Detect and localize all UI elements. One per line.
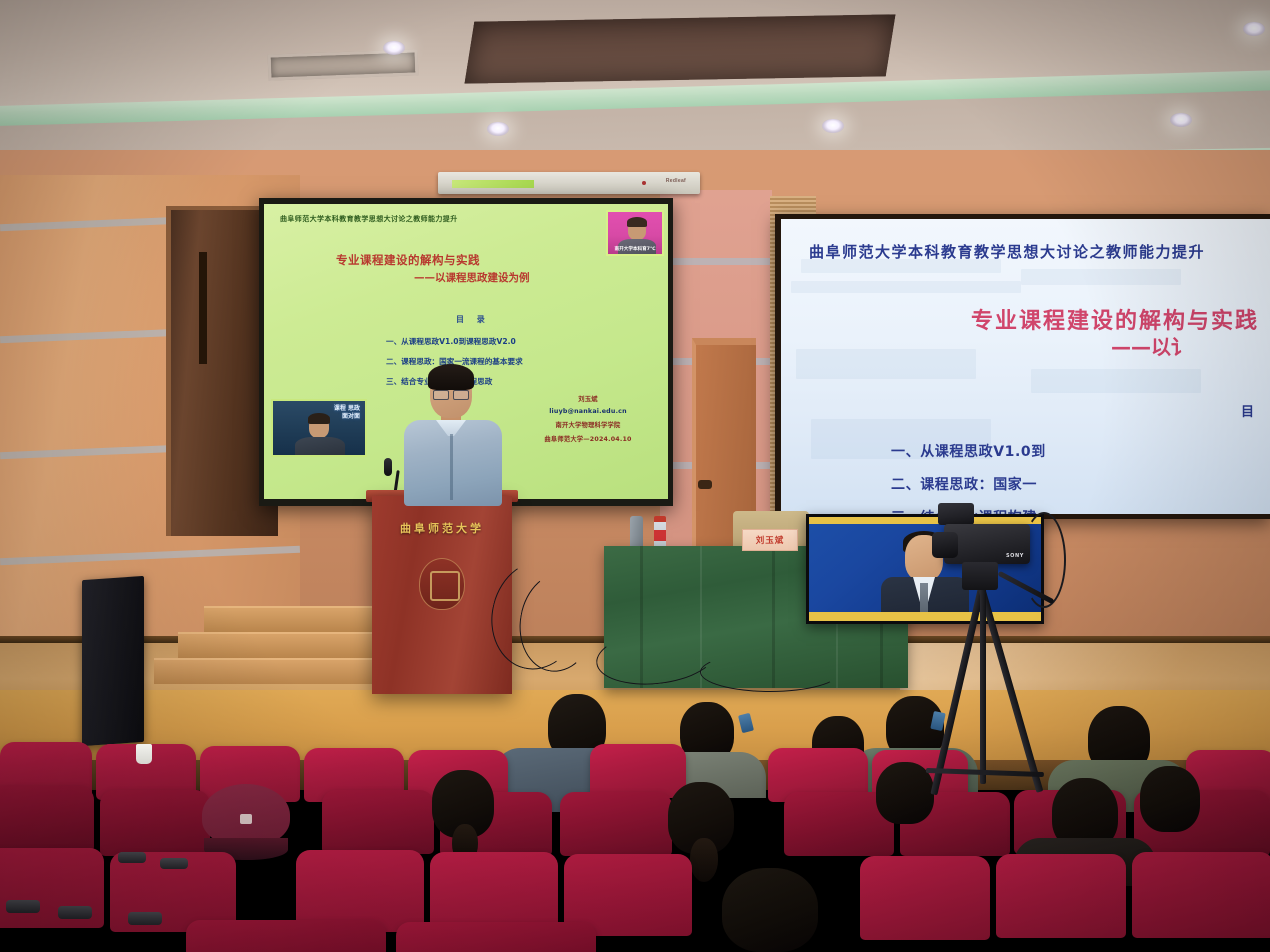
credit-name: 刘玉斌 <box>518 394 658 403</box>
camera-brand-label: SONY <box>1006 553 1024 559</box>
seat[interactable] <box>860 856 990 940</box>
left-slide-credits: 刘玉斌 liuyb@nankai.edu.cn 南开大学物理科学学院 曲阜师范大… <box>518 394 658 448</box>
seat[interactable] <box>322 790 434 854</box>
university-emblem-icon <box>419 558 465 610</box>
downlight-icon <box>1243 22 1265 36</box>
seat[interactable] <box>996 854 1126 938</box>
slide-glare <box>796 349 976 379</box>
right-slide-toc-label: 目 <box>1241 401 1260 420</box>
bottle-cap <box>654 516 666 522</box>
person-body <box>295 437 345 457</box>
tripod-leg <box>980 588 986 784</box>
floor-monitor <box>82 576 144 746</box>
door-knob-icon[interactable] <box>698 480 712 489</box>
video-insert-caption: 南开大学本科育7℃ <box>608 246 662 252</box>
seat[interactable] <box>1132 852 1270 938</box>
tv-banner-top <box>809 517 1041 524</box>
tv-banner-bottom <box>809 612 1041 621</box>
downlight-icon <box>1170 113 1192 127</box>
caption-line-2: 面对面 <box>334 413 360 421</box>
seat[interactable] <box>100 790 210 856</box>
podium-university-name: 曲阜师范大学 <box>372 520 512 536</box>
seat[interactable] <box>560 792 672 856</box>
seat-armrest <box>6 900 40 913</box>
left-slide-header: 曲阜师范大学本科教育教学思想大讨论之教师能力提升 <box>280 214 458 224</box>
right-projection-screen: 曲阜师范大学本科教育教学思想大讨论之教师能力提升 专业课程建设的解构与实践 ——… <box>775 214 1270 519</box>
left-slide-agenda: 一、从课程思政V1.0到课程思政V2.0 二、课程思政：国家一流课程的基本要求 … <box>386 336 636 396</box>
video-insert-caption: 课程 思政 面对面 <box>334 405 360 421</box>
step <box>178 632 390 658</box>
audience-head <box>722 868 818 952</box>
slide-glare <box>1021 269 1181 285</box>
left-slide-toc-label: 目 录 <box>456 314 490 325</box>
right-slide-header: 曲阜师范大学本科教育教学思想大讨论之教师能力提升 <box>809 241 1205 262</box>
seat-armrest <box>128 912 162 925</box>
step <box>204 606 390 632</box>
video-insert-bottom-left: 课程 思政 面对面 <box>271 399 367 457</box>
seat[interactable] <box>590 744 686 798</box>
podium: 曲阜师范大学 <box>372 496 512 694</box>
downlight-icon <box>383 41 405 55</box>
bottle-label <box>654 530 666 541</box>
seat-armrest <box>118 852 146 863</box>
name-card: 刘玉斌 <box>742 529 798 551</box>
right-slide-subtitle: ——以讠 <box>1111 331 1191 360</box>
seat-armrest <box>58 906 92 919</box>
person-hair <box>308 413 330 424</box>
agenda-item: 二、课程思政：国家一 <box>891 474 1046 494</box>
video-insert-top-right: 南开大学本科育7℃ <box>606 210 664 256</box>
agenda-item: 一、从课程思政V1.0到课程思政V2.0 <box>386 336 636 347</box>
downlight-icon <box>487 122 509 136</box>
tv-person-tie <box>920 583 928 613</box>
ceiling-recess <box>464 14 895 83</box>
person-hair <box>627 217 647 227</box>
caption-line-1: 课程 思政 <box>334 405 360 413</box>
microphone-head <box>384 458 392 476</box>
speaker-hair <box>428 364 474 390</box>
housing-indicator-icon <box>642 181 646 185</box>
wall-stripe <box>660 258 772 265</box>
seat[interactable] <box>0 786 94 852</box>
cap-logo-icon <box>240 814 252 824</box>
agenda-item: 三、结合专业课程构建课程思政 <box>386 376 636 387</box>
stage-steps <box>148 600 388 694</box>
credit-affiliation: 南开大学物理科学学院 <box>518 420 658 429</box>
camera-lens-icon <box>932 532 958 558</box>
downlight-icon <box>822 119 844 133</box>
step <box>154 658 390 684</box>
eyeglasses-icon <box>433 390 469 398</box>
slide-glare <box>791 281 1021 293</box>
stage-cable <box>700 652 840 692</box>
lecture-hall-photo: Redleaf 曲阜师范大学本科教育教学思想大讨论之教师能力提升 专业课程建设的… <box>0 0 1270 952</box>
screen-light-strip <box>452 180 534 188</box>
speaker-shirt-placket <box>450 434 453 500</box>
seat[interactable] <box>396 922 596 952</box>
agenda-item: 二、课程思政：国家一流课程的基本要求 <box>386 356 636 367</box>
agenda-item: 一、从课程思政V1.0到 <box>891 441 1046 461</box>
credit-event: 曲阜师范大学—2024.04.10 <box>518 434 658 443</box>
credit-email: liuyb@nankai.edu.cn <box>518 408 658 415</box>
right-slide: 曲阜师范大学本科教育教学思想大讨论之教师能力提升 专业课程建设的解构与实践 ——… <box>781 219 1270 514</box>
housing-brand-label: Redleaf <box>666 178 686 184</box>
audience-ponytail <box>690 838 718 882</box>
slide-glare <box>1031 369 1201 393</box>
left-slide-subtitle: ——以课程思政建设为例 <box>414 270 530 285</box>
seat[interactable] <box>186 920 386 952</box>
camera-top-handle <box>938 503 974 525</box>
paper-cup <box>136 744 152 764</box>
seat-armrest <box>160 858 188 869</box>
tripod-head-mount[interactable] <box>962 562 998 590</box>
name-card-text: 刘玉斌 <box>756 534 785 546</box>
audience-head <box>1140 766 1200 832</box>
left-slide-title: 专业课程建设的解构与实践 <box>336 252 480 268</box>
